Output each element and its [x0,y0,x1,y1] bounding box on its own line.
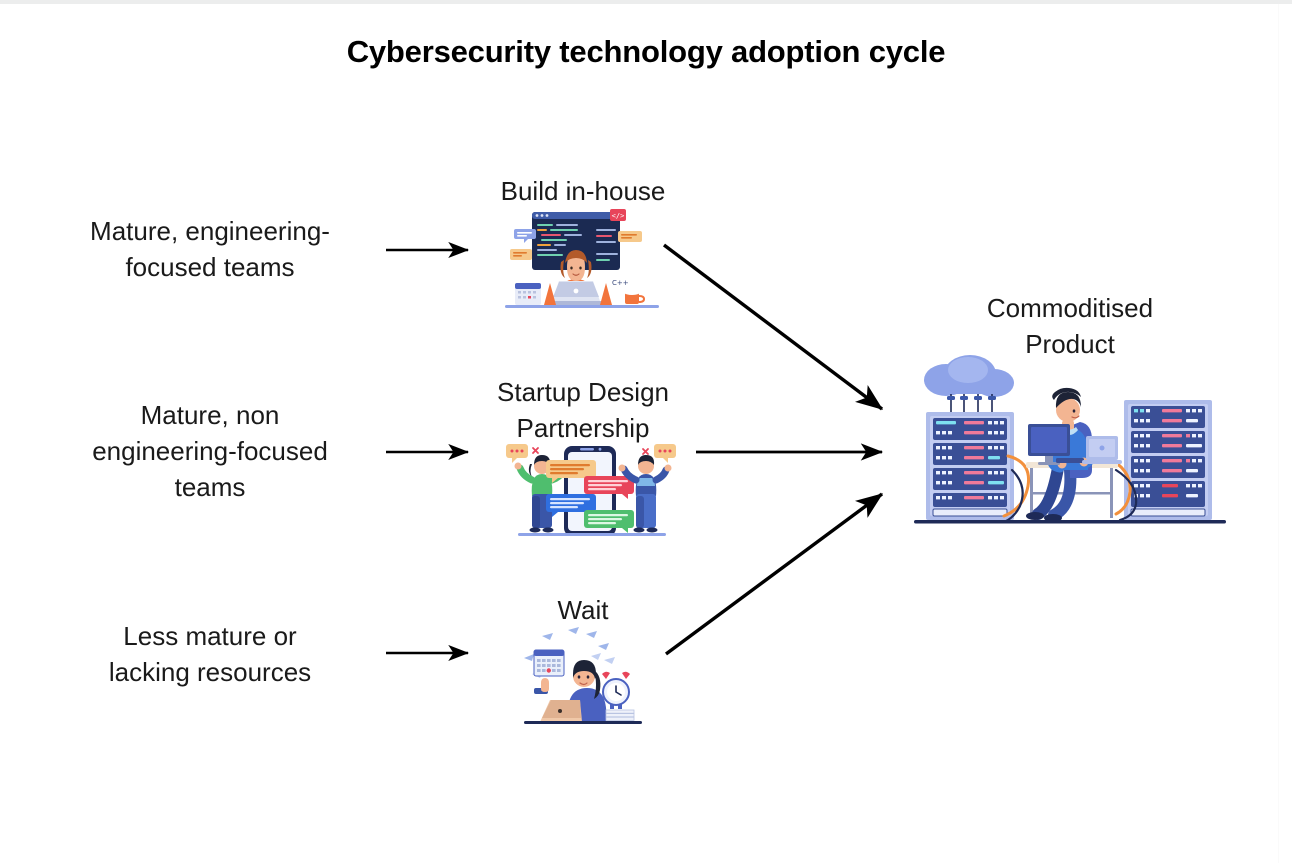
diagram-canvas: Cybersecurity technology adoption cycle … [0,0,1292,863]
strategy-label-line: Build in-house [450,173,716,209]
source-label-line: engineering-focused [62,433,358,469]
source-label-line: lacking resources [62,654,358,690]
right-edge-line [1278,4,1279,863]
woman-waiting-deadline-illustration [512,622,652,724]
developer-coding-illustration: </> C++ [500,205,668,317]
arrow-wait-to-product [666,494,882,654]
page-title: Cybersecurity technology adoption cycle [0,34,1292,70]
strategy-label-build-in-house: Build in-house [450,173,716,209]
source-label-line: focused teams [62,249,358,285]
two-people-chat-phone-illustration [496,436,684,546]
source-label-line: Mature, non [62,397,358,433]
top-chrome-bar [0,0,1292,4]
source-label-less-mature: Less mature or lacking resources [62,618,358,690]
data-center-servers-illustration [908,352,1232,534]
strategy-label-line: Startup Design [450,374,716,410]
source-label-mature-non-eng: Mature, non engineering-focused teams [62,397,358,505]
svg-text:C++: C++ [612,279,629,287]
source-label-mature-eng: Mature, engineering- focused teams [62,213,358,285]
source-label-line: Mature, engineering- [62,213,358,249]
outcome-label-line: Commoditised [930,290,1210,326]
source-label-line: teams [62,469,358,505]
source-label-line: Less mature or [62,618,358,654]
svg-text:</>: </> [612,212,625,220]
